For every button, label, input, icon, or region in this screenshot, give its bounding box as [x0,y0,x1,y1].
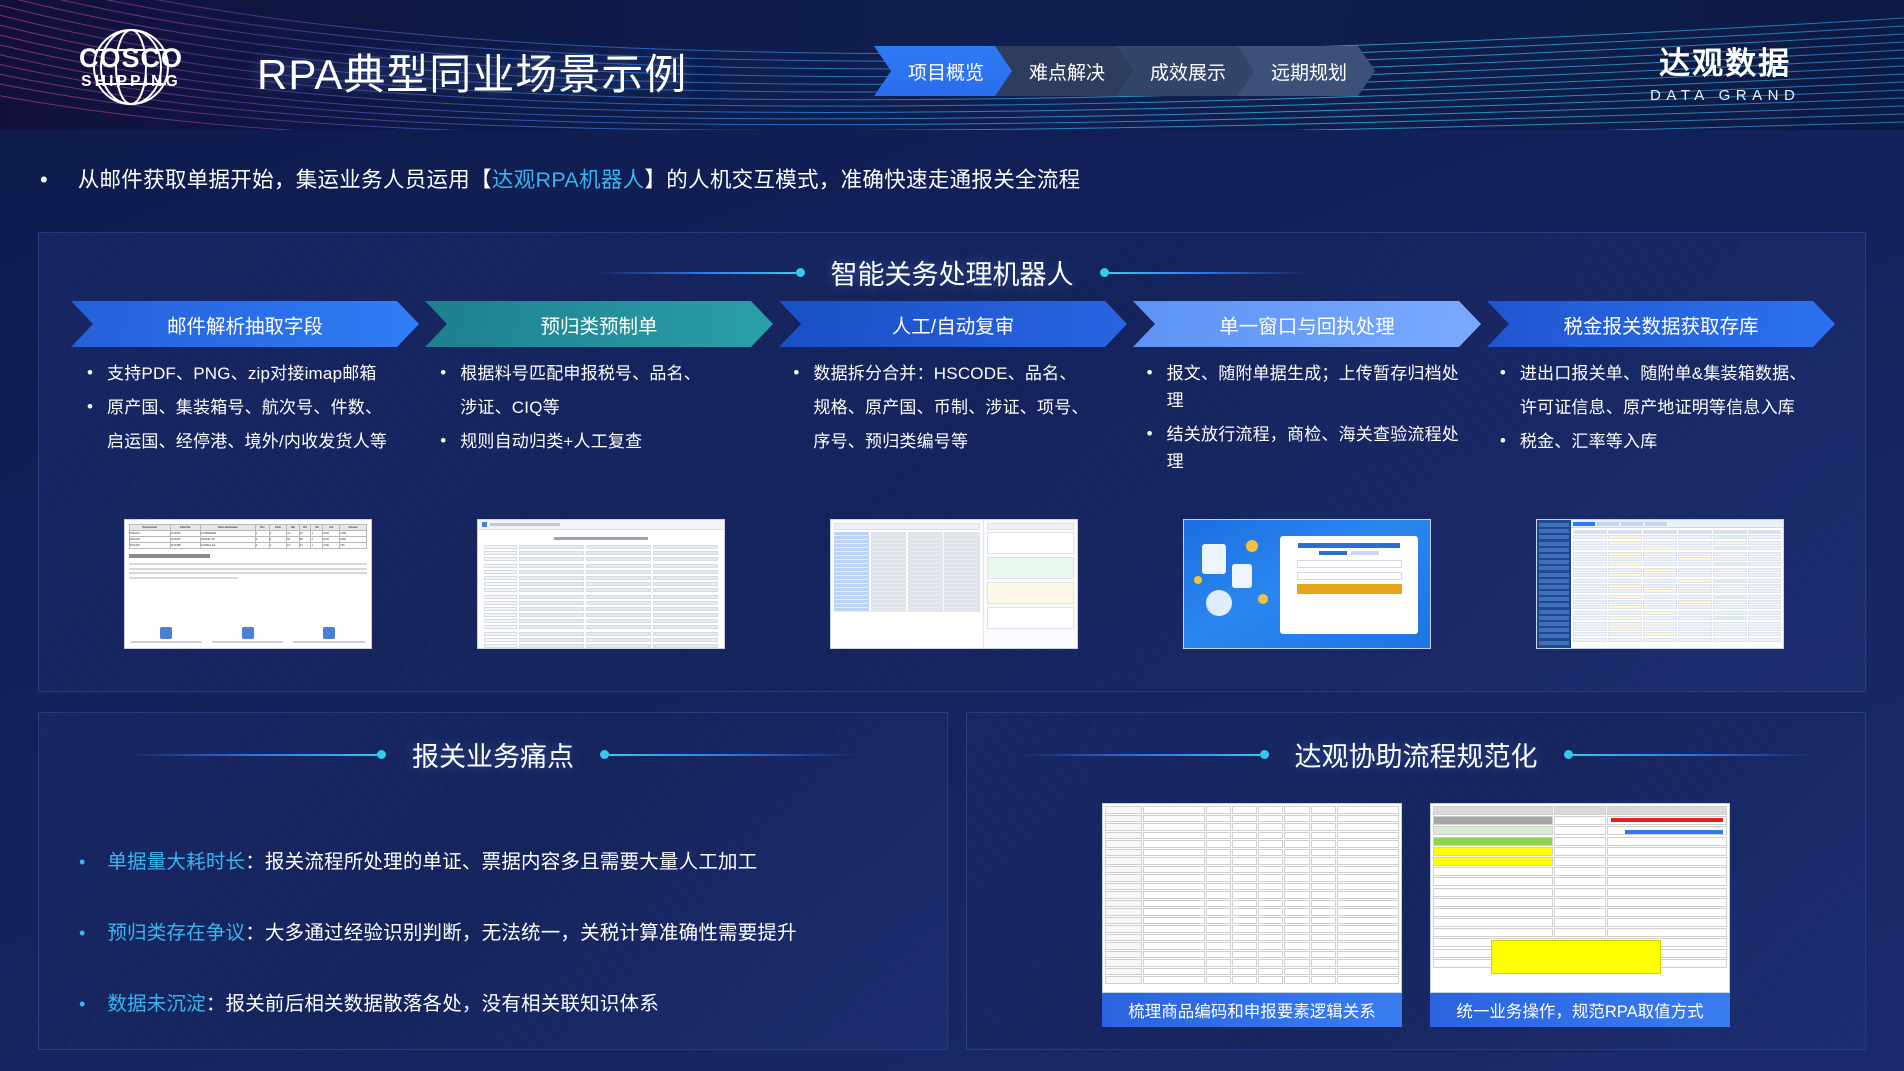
invoice-document-screenshot[interactable]: TransporteurClient NoClient destinationP… [124,519,372,649]
bullet-icon: • [79,853,85,871]
commodity-code-spreadsheet[interactable] [1102,803,1402,993]
card-rpa-rules: 统一业务操作，规范RPA取值方式 [1430,803,1730,1027]
heading-dot-right [1564,750,1573,759]
list-item: 原产国、集装箱号、航次号、件数、 [85,395,410,422]
top-panel-heading: 智能关务处理机器人 [39,253,1865,292]
attachment-chips [131,627,365,643]
step-single-window[interactable]: 单一窗口与回执处理 [1133,301,1481,347]
magnifier-icon [1206,590,1232,616]
heading-line-right [1109,272,1309,274]
erp-sidebar [1537,520,1571,648]
column-single-window: 报文、随附单据生成；上传暂存归档处理 结关放行流程，商检、海关查验流程处理 [1131,361,1484,482]
decorative-shape [1232,564,1252,588]
pain-point-text: 预归类存在争议：大多通过经验识别判断，无法统一，关税计算准确性需要提升 [107,916,797,945]
pain-point-label: 预归类存在争议 [107,922,245,944]
review-table [831,520,984,648]
subtitle-highlight: 达观RPA机器人 [492,168,645,192]
list-item: 支持PDF、PNG、zip对接imap邮箱 [85,361,410,388]
pain-point-desc: ：报关前后相关数据散落各处，没有相关联知识体系 [206,993,659,1015]
thumbnail-wrap [1131,519,1484,649]
list-item: 规则自动归类+人工复查 [438,429,763,456]
pain-point-text: 数据未沉淀：报关前后相关数据散落各处，没有相关联知识体系 [107,987,659,1016]
review-list-screenshot[interactable] [830,519,1078,649]
app-toolbar [478,520,724,530]
step-email-parse[interactable]: 邮件解析抽取字段 [71,301,419,347]
list-item: 规格、原产国、币制、涉证、项号、 [791,395,1116,422]
pain-point-text: 单据量大耗时长：报关流程所处理的单证、票据内容多且需要大量人工加工 [107,845,757,874]
heading-line-left [596,272,796,274]
attachment-chip [212,627,283,643]
tab-project-overview[interactable]: 项目概览 [874,46,1012,96]
heading-dot-left [377,750,386,759]
list-item: 税金、汇率等入库 [1498,429,1823,456]
list-item: • 数据未沉淀：报关前后相关数据散落各处，没有相关联知识体系 [79,987,925,1016]
bullet-icon: • [79,924,85,942]
review-detail-panel [984,520,1077,648]
process-standardization-panel: 达观协助流程规范化 [966,712,1866,1050]
datagrand-logo: 达观数据 DATA GRAND [1650,38,1800,104]
standardization-cards: 梳理商品编码和申报要素逻辑关系 [967,803,1865,1027]
rpa-rules-spreadsheet[interactable] [1430,803,1730,993]
cosco-line2: SHIPPING [79,74,183,90]
thumbnail-wrap [777,519,1130,649]
heading-dot-left [796,268,805,277]
column-pre-classification: 根据料号匹配申报税号、品名、 涉证、CIQ等 规则自动归类+人工复查 [424,361,777,482]
doc-section-title [129,554,210,558]
bullet-icon: • [40,169,48,191]
heading-dot-left [1260,750,1269,759]
pain-points-panel: 报关业务痛点 • 单据量大耗时长：报关流程所处理的单证、票据内容多且需要大量人工… [38,712,948,1050]
top-nav: 项目概览 难点解决 成效展示 远期规划 [874,46,1358,96]
thumbnail-wrap: TransporteurClient NoClient destinationP… [71,519,424,649]
list-item: 启运国、经停港、境外/内收发货人等 [85,429,410,456]
single-window-login-screenshot[interactable] [1183,519,1431,649]
header-bar: COSCO SHIPPING RPA典型同业场景示例 项目概览 难点解决 成效展… [0,0,1904,130]
decorative-shape [1202,544,1226,574]
pain-point-desc: ：大多通过经验识别判断，无法统一，关税计算准确性需要提升 [245,922,797,944]
datagrand-name-cn: 达观数据 [1650,38,1800,83]
thumbnail-wrap [424,519,777,649]
tax-declaration-erp-screenshot[interactable] [1536,519,1784,649]
heading-dot-right [1100,268,1109,277]
list-item: 结关放行流程，商检、海关查验流程处理 [1145,422,1470,476]
subtitle-part2: 】的人机交互模式，准确快速走通报关全流程 [644,168,1080,192]
tab-long-term-plan[interactable]: 远期规划 [1237,46,1375,96]
doc-table: TransporteurClient NoClient destinationP… [129,524,367,549]
list-item: 报文、随附单据生成；上传暂存归档处理 [1145,361,1470,415]
column-email-parse: 支持PDF、PNG、zip对接imap邮箱 原产国、集装箱号、航次号、件数、 启… [71,361,424,482]
column-tax-store: 进出口报关单、随附单&集装箱数据、 许可证信息、原产地证明等信息入库 税金、汇率… [1484,361,1837,482]
standardization-title: 达观协助流程规范化 [1269,735,1564,774]
datagrand-name-en: DATA GRAND [1650,87,1800,104]
list-item: 数据拆分合并：HSCODE、品名、 [791,361,1116,388]
tab-results-display[interactable]: 成效展示 [1116,46,1254,96]
list-item: 许可证信息、原产地证明等信息入库 [1498,395,1823,422]
step-details-columns: 支持PDF、PNG、zip对接imap邮箱 原产国、集装箱号、航次号、件数、 启… [71,361,1837,482]
cosco-line1: COSCO [79,45,183,72]
list-item: 序号、预归类编号等 [791,429,1116,456]
heading-dot-right [600,750,609,759]
red-note-text [1611,818,1723,822]
erp-grid [1571,528,1783,645]
pain-point-label: 数据未沉淀 [107,993,206,1015]
card-caption: 梳理商品编码和申报要素逻辑关系 [1102,993,1402,1027]
step-pre-classification[interactable]: 预归类预制单 [425,301,773,347]
erp-main [1571,520,1783,648]
card-caption: 统一业务操作，规范RPA取值方式 [1430,993,1730,1027]
list-item: • 预归类存在争议：大多通过经验识别判断，无法统一，关税计算准确性需要提升 [79,916,925,945]
pain-points-heading: 报关业务痛点 [39,735,947,774]
attachment-chip [131,627,202,643]
coin-icon [1258,594,1268,604]
pain-point-label: 单据量大耗时长 [107,851,245,873]
attachment-chip [293,627,364,643]
pain-point-desc: ：报关流程所处理的单证、票据内容多且需要大量人工加工 [245,851,757,873]
login-card [1280,536,1418,634]
pain-points-title: 报关业务痛点 [386,735,600,774]
robot-process-panel: 智能关务处理机器人 邮件解析抽取字段 预归类预制单 人工/自动复审 单一窗口与回… [38,232,1866,692]
list-item: 进出口报关单、随附单&集装箱数据、 [1498,361,1823,388]
page-title: RPA典型同业场景示例 [257,41,687,102]
cosco-shipping-logo: COSCO SHIPPING [62,28,200,106]
process-steps: 邮件解析抽取字段 预归类预制单 人工/自动复审 单一窗口与回执处理 税金报关数据… [71,301,1835,347]
subtitle-row: • 从邮件获取单据开始，集运业务人员运用【达观RPA机器人】的人机交互模式，准确… [40,163,1080,194]
column-review: 数据拆分合并：HSCODE、品名、 规格、原产国、币制、涉证、项号、 序号、预归… [777,361,1130,482]
step-screenshots: TransporteurClient NoClient destinationP… [71,519,1837,649]
pain-points-list: • 单据量大耗时长：报关流程所处理的单证、票据内容多且需要大量人工加工 • 预归… [79,845,925,1058]
login-button[interactable] [1297,584,1402,594]
tab-difficulty-solutions[interactable]: 难点解决 [995,46,1133,96]
subtitle-part1: 从邮件获取单据开始，集运业务人员运用【 [78,168,492,192]
heading-line-right [1573,754,1813,756]
list-item: • 单据量大耗时长：报关流程所处理的单证、票据内容多且需要大量人工加工 [79,845,925,874]
list-item: 根据料号匹配申报税号、品名、 [438,361,763,388]
thumbnail-wrap [1484,519,1837,649]
step-tax-data-store[interactable]: 税金报关数据获取存库 [1487,301,1835,347]
subtitle-text: 从邮件获取单据开始，集运业务人员运用【达观RPA机器人】的人机交互模式，准确快速… [78,163,1081,194]
top-panel-title: 智能关务处理机器人 [805,253,1100,292]
standardization-heading: 达观协助流程规范化 [967,735,1865,774]
highlighted-cell-block [1491,940,1661,974]
erp-tabs [1571,520,1783,528]
blue-note-text [1625,830,1723,834]
slide-root: COSCO SHIPPING RPA典型同业场景示例 项目概览 难点解决 成效展… [0,0,1904,1071]
step-manual-auto-review[interactable]: 人工/自动复审 [779,301,1127,347]
form-body [478,530,724,649]
coin-icon [1246,540,1258,552]
doc-paragraph [129,563,367,579]
cosco-wordmark: COSCO SHIPPING [79,45,183,90]
card-commodity-code: 梳理商品编码和申报要素逻辑关系 [1102,803,1402,1027]
pre-classification-form-screenshot[interactable] [477,519,725,649]
heading-line-left [1020,754,1260,756]
bullet-icon: • [79,995,85,1013]
list-item: 涉证、CIQ等 [438,395,763,422]
heading-line-right [609,754,859,756]
heading-line-left [127,754,377,756]
coin-icon [1194,576,1202,584]
